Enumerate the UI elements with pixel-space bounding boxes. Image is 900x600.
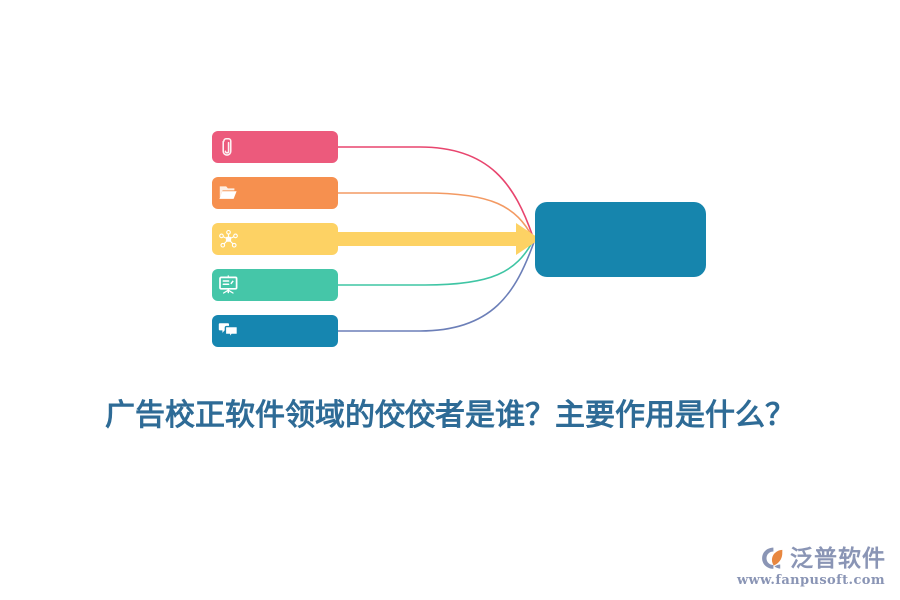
flow-item-documents[interactable] (212, 177, 338, 209)
flow-item-network[interactable] (212, 223, 338, 255)
watermark: 泛普软件 www.fanpusoft.com (737, 545, 886, 588)
connector-line-chat (338, 242, 534, 331)
watermark-brand-row: 泛普软件 (760, 545, 886, 571)
flow-item-attachment[interactable] (212, 131, 338, 163)
flow-item-presentation[interactable] (212, 269, 338, 301)
flow-item-chat[interactable] (212, 315, 338, 347)
connector-line-presentation (338, 241, 533, 285)
watermark-url: www.fanpusoft.com (737, 573, 885, 588)
flow-diagram (0, 0, 900, 600)
watermark-brand: 泛普软件 (790, 547, 886, 570)
diagram-canvas: 广告校正软件领域的佼佼者是谁？主要作用是什么？ 泛普软件 www.fanpuso… (0, 0, 900, 600)
connector-line-attachment (338, 147, 533, 237)
connector-arrow-network (338, 223, 540, 255)
target-node[interactable] (535, 202, 706, 277)
page-title: 广告校正软件领域的佼佼者是谁？主要作用是什么？ (0, 390, 900, 434)
fanpu-logo-icon (760, 545, 786, 571)
connector-line-documents (338, 193, 533, 238)
